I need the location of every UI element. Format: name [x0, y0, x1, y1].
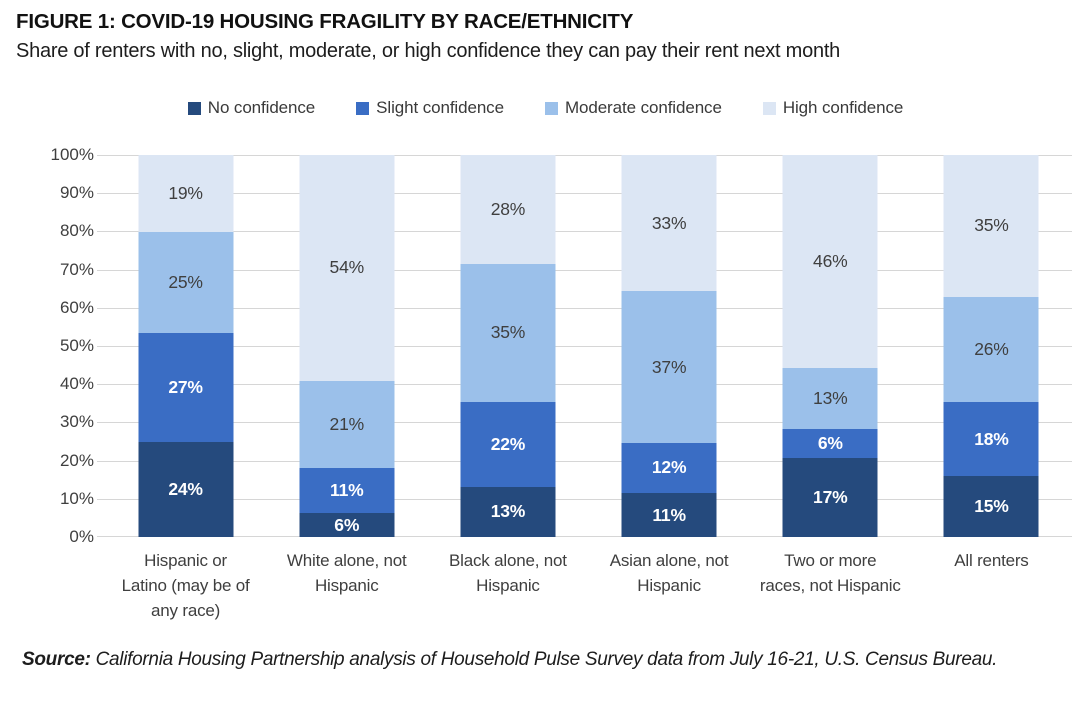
source-note: Source: California Housing Partnership a… — [22, 645, 1070, 674]
x-tick-label-line: Latino (may be of — [107, 573, 264, 598]
bar-segment[interactable]: 6% — [299, 513, 394, 537]
y-tick-label: 80% — [24, 221, 94, 241]
source-text: California Housing Partnership analysis … — [91, 649, 997, 670]
y-tick-mark — [97, 270, 105, 271]
bar-column: 24%27%25%19% — [105, 155, 266, 537]
bar-segment[interactable]: 37% — [622, 291, 717, 442]
x-tick-label-line: Hispanic — [429, 573, 586, 598]
bar-segment[interactable]: 13% — [460, 487, 555, 537]
bar-segment[interactable]: 12% — [622, 443, 717, 493]
bar-segment[interactable]: 54% — [299, 155, 394, 381]
y-tick-mark — [97, 155, 105, 156]
bar-segment[interactable]: 11% — [622, 493, 717, 537]
bar-segment[interactable]: 24% — [138, 442, 233, 537]
y-tick-mark — [97, 193, 105, 194]
bar-segment[interactable]: 18% — [944, 402, 1039, 476]
x-axis-labels: Hispanic orLatino (may be ofany race)Whi… — [105, 548, 1072, 623]
bar-stack[interactable]: 24%27%25%19% — [138, 155, 233, 537]
y-tick-label: 0% — [24, 527, 94, 547]
x-tick-label-line: races, not Hispanic — [752, 573, 909, 598]
x-tick-label: Asian alone, notHispanic — [589, 548, 750, 623]
x-tick-label-line: Hispanic — [591, 573, 748, 598]
x-tick-label: All renters — [911, 548, 1072, 623]
bar-column: 15%18%26%35% — [911, 155, 1072, 537]
source-label: Source: — [22, 649, 91, 670]
bar-column: 11%12%37%33% — [589, 155, 750, 537]
x-tick-label-line: Hispanic or — [107, 548, 264, 573]
bar-column: 13%22%35%28% — [427, 155, 588, 537]
bar-segment[interactable]: 22% — [460, 402, 555, 487]
bar-stack[interactable]: 13%22%35%28% — [460, 155, 555, 537]
y-tick-mark — [97, 536, 105, 537]
x-tick-label-line: any race) — [107, 598, 264, 623]
y-tick-mark — [97, 461, 105, 462]
y-tick-label: 100% — [24, 145, 94, 165]
bar-segment[interactable]: 35% — [460, 264, 555, 402]
bar-segment[interactable]: 26% — [944, 297, 1039, 402]
x-tick-label-line: All renters — [913, 548, 1070, 573]
y-tick-label: 50% — [24, 336, 94, 356]
y-tick-label: 90% — [24, 183, 94, 203]
bar-stack[interactable]: 15%18%26%35% — [944, 155, 1039, 537]
bar-segment[interactable]: 17% — [783, 458, 878, 537]
y-tick-mark — [97, 384, 105, 385]
bar-segment[interactable]: 27% — [138, 333, 233, 442]
y-tick-label: 30% — [24, 412, 94, 432]
x-tick-label: White alone, notHispanic — [266, 548, 427, 623]
bar-column: 6%11%21%54% — [266, 155, 427, 537]
bar-series-group: 24%27%25%19%6%11%21%54%13%22%35%28%11%12… — [105, 155, 1072, 537]
bar-segment[interactable]: 11% — [299, 468, 394, 513]
bar-stack[interactable]: 6%11%21%54% — [299, 155, 394, 537]
x-tick-label: Hispanic orLatino (may be ofany race) — [105, 548, 266, 623]
bar-segment[interactable]: 25% — [138, 232, 233, 334]
bar-segment[interactable]: 13% — [783, 368, 878, 429]
y-tick-mark — [97, 499, 105, 500]
y-tick-label: 10% — [24, 489, 94, 509]
bar-segment[interactable]: 6% — [783, 429, 878, 457]
y-tick-label: 40% — [24, 374, 94, 394]
bar-segment[interactable]: 46% — [783, 155, 878, 368]
bar-segment[interactable]: 33% — [622, 155, 717, 291]
y-axis-labels: 100%90%80%70%60%50%40%30%20%10%0% — [24, 155, 94, 537]
x-tick-label-line: Two or more — [752, 548, 909, 573]
bar-segment[interactable]: 15% — [944, 476, 1039, 537]
x-tick-label: Two or moreraces, not Hispanic — [750, 548, 911, 623]
bar-segment[interactable]: 19% — [138, 155, 233, 232]
y-tick-mark — [97, 231, 105, 232]
y-tick-label: 60% — [24, 298, 94, 318]
bar-segment[interactable]: 35% — [944, 155, 1039, 297]
y-tick-label: 70% — [24, 260, 94, 280]
figure-container: FIGURE 1: COVID-19 HOUSING FRAGILITY BY … — [0, 0, 1091, 715]
bar-stack[interactable]: 17%6%13%46% — [783, 155, 878, 537]
y-tick-label: 20% — [24, 451, 94, 471]
x-tick-label-line: Black alone, not — [429, 548, 586, 573]
bar-segment[interactable]: 28% — [460, 155, 555, 264]
y-tick-mark — [97, 308, 105, 309]
y-tick-mark — [97, 422, 105, 423]
x-tick-label-line: White alone, not — [268, 548, 425, 573]
bar-segment[interactable]: 21% — [299, 381, 394, 468]
x-tick-label: Black alone, notHispanic — [427, 548, 588, 623]
bar-stack[interactable]: 11%12%37%33% — [622, 155, 717, 537]
x-tick-label-line: Asian alone, not — [591, 548, 748, 573]
bar-column: 17%6%13%46% — [750, 155, 911, 537]
y-tick-mark — [97, 346, 105, 347]
x-tick-label-line: Hispanic — [268, 573, 425, 598]
